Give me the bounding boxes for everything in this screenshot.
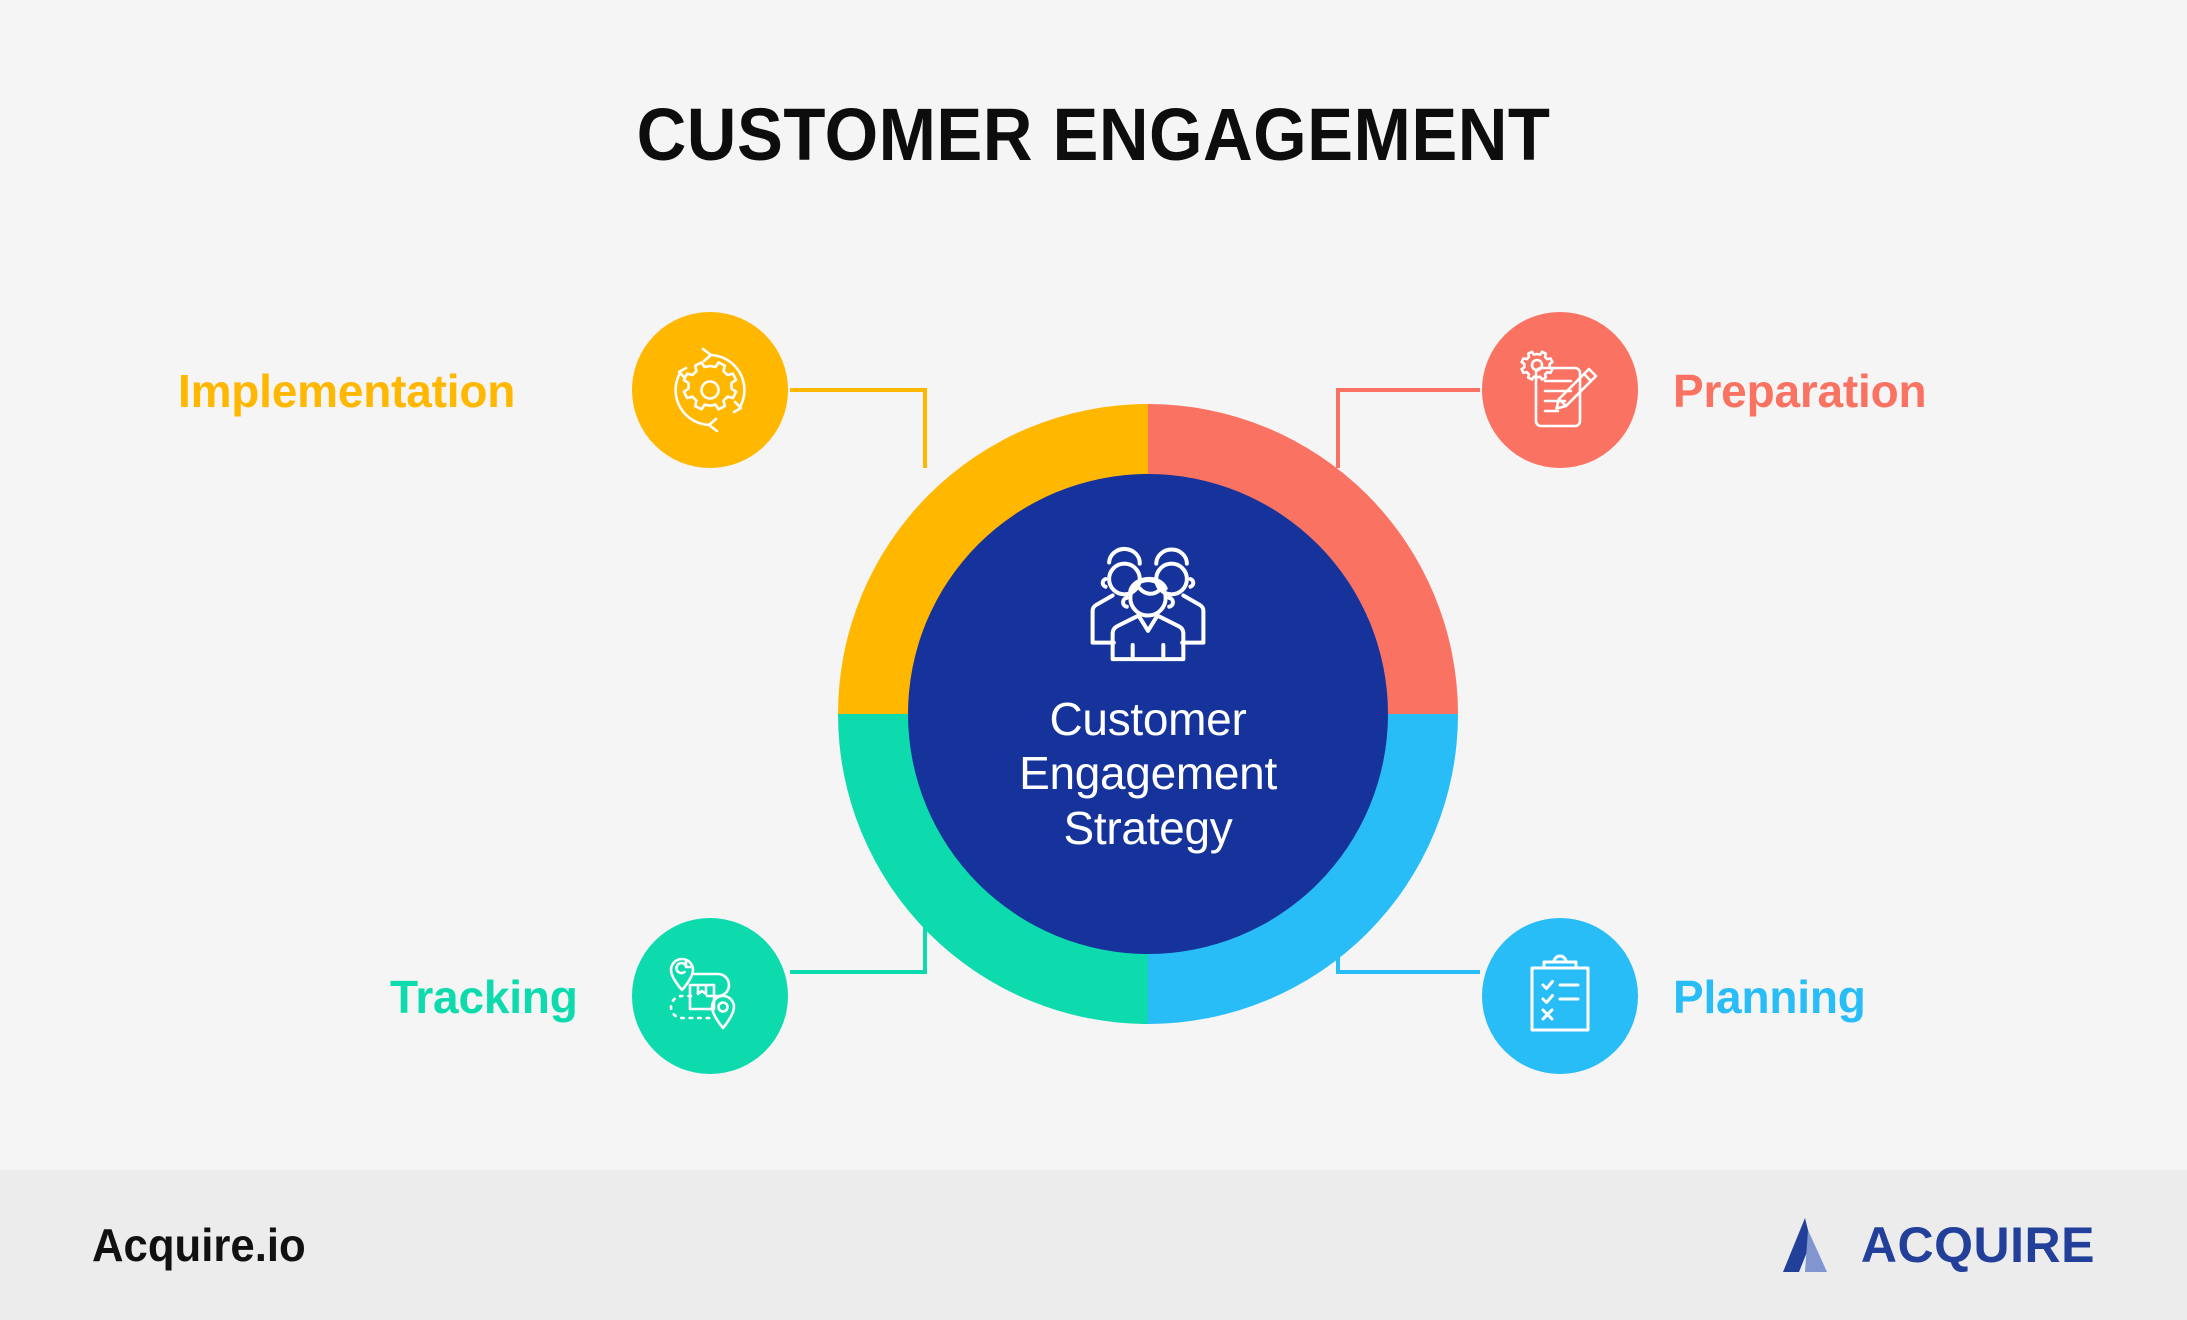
document-pencil-gear-icon	[1510, 340, 1610, 440]
center-label-line2: Engagement	[1019, 746, 1277, 800]
route-package-pins-icon	[660, 946, 760, 1046]
diagram-container: Customer Engagement Strategy	[0, 0, 2187, 1170]
group-of-people-icon	[1077, 546, 1219, 678]
clipboard-checklist-icon	[1510, 946, 1610, 1046]
node-tracking[interactable]	[632, 918, 788, 1074]
node-label-tracking: Tracking	[390, 974, 578, 1020]
center-circle: Customer Engagement Strategy	[908, 474, 1388, 954]
node-label-preparation: Preparation	[1673, 368, 1926, 414]
node-label-implementation: Implementation	[178, 368, 515, 414]
node-implementation[interactable]	[632, 312, 788, 468]
acquire-a-mark-icon	[1775, 1216, 1847, 1274]
node-planning[interactable]	[1482, 918, 1638, 1074]
acquire-logo[interactable]: ACQUIRE	[1775, 1216, 2095, 1274]
infographic-canvas: CUSTOMER ENGAGEMENT	[0, 0, 2187, 1320]
footer-brand: Acquire.io	[92, 1218, 306, 1272]
node-label-planning: Planning	[1673, 974, 1866, 1020]
footer-bar: Acquire.io ACQUIRE	[0, 1170, 2187, 1320]
acquire-logo-text: ACQUIRE	[1861, 1220, 2095, 1270]
center-label: Customer Engagement Strategy	[1019, 692, 1277, 855]
center-label-line1: Customer	[1019, 692, 1277, 746]
center-label-line3: Strategy	[1019, 801, 1277, 855]
node-preparation[interactable]	[1482, 312, 1638, 468]
gear-refresh-icon	[660, 340, 760, 440]
